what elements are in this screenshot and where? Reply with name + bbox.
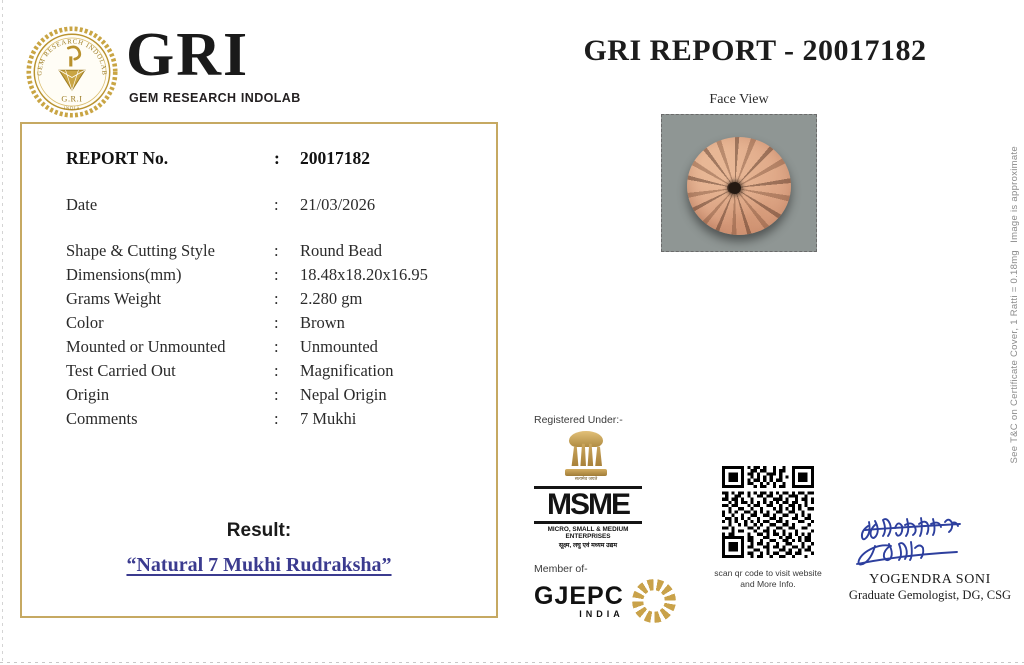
result-label: Result: [22, 520, 496, 542]
msme-fullname-hindi: सूक्ष्म, लघु एवं मध्यम उद्यम [534, 540, 642, 549]
row-separator: : [274, 265, 300, 285]
brand-gri-text: GRI [126, 24, 301, 86]
svg-text:G.R.I: G.R.I [61, 94, 82, 103]
row-separator: : [274, 148, 300, 169]
row-value: 18.48x18.20x16.95 [300, 265, 466, 285]
emblem-lions [569, 431, 603, 447]
gjepc-country: INDIA [534, 609, 624, 619]
row-separator: : [274, 361, 300, 381]
member-of-label: Member of- [534, 563, 694, 575]
gri-seal-icon: GEM RESEARCH INDOLAB G.R.I INDIA [26, 26, 118, 118]
row-value: Brown [300, 313, 466, 333]
table-row: Test Carried Out : Magnification [66, 361, 466, 381]
row-label: Dimensions(mm) [66, 265, 274, 285]
row-label: Mounted or Unmounted [66, 337, 274, 357]
ashoka-emblem-icon: सत्यमेव जयते [560, 430, 612, 482]
msme-wordmark: MSME [534, 486, 642, 524]
table-row: REPORT No. : 20017182 [66, 148, 466, 169]
report-details-list: REPORT No. : 20017182 Date : 21/03/2026 … [66, 148, 466, 433]
table-row: Shape & Cutting Style : Round Bead [66, 241, 466, 261]
table-row: Comments : 7 Mukhi [66, 409, 466, 429]
face-view-section: Face View [654, 92, 824, 252]
row-label: Date [66, 195, 274, 215]
emblem-base [565, 469, 607, 476]
table-row: Dimensions(mm) : 18.48x18.20x16.95 [66, 265, 466, 285]
row-value: 2.280 gm [300, 289, 466, 309]
row-label: Origin [66, 385, 274, 405]
qr-code-icon[interactable] [722, 466, 814, 558]
report-details-panel: REPORT No. : 20017182 Date : 21/03/2026 … [20, 122, 498, 618]
emblem-motto-text: सत्यमेव जयते [560, 476, 612, 482]
row-separator: : [274, 313, 300, 333]
row-label: Test Carried Out [66, 361, 274, 381]
registration-section: Registered Under:- सत्यमेव जयते MSME MIC… [534, 414, 694, 623]
brand-sub-research: RESEARCH [163, 91, 236, 105]
row-value: Round Bead [300, 241, 466, 261]
row-value: Unmounted [300, 337, 466, 357]
registered-under-label: Registered Under:- [534, 414, 694, 426]
row-label: Shape & Cutting Style [66, 241, 274, 261]
gjepc-sunburst-icon [632, 579, 676, 623]
row-separator: : [274, 241, 300, 261]
gemstone-photo [661, 114, 817, 252]
table-row: Color : Brown [66, 313, 466, 333]
gjepc-wordmark: GJEPC [534, 584, 624, 609]
row-value: 21/03/2026 [300, 195, 466, 215]
table-row: Date : 21/03/2026 [66, 195, 466, 215]
signature-block: YOGENDRA SONI Graduate Gemologist, DG, C… [845, 516, 1015, 603]
row-label: Comments [66, 409, 274, 429]
terms-conditions-note: See T&C on Certificate Cover, 1 Ratti = … [1009, 250, 1020, 464]
row-value: Magnification [300, 361, 466, 381]
row-separator: : [274, 409, 300, 429]
row-value: 20017182 [300, 148, 466, 169]
table-row: Grams Weight : 2.280 gm [66, 289, 466, 309]
certificate-header: GEM RESEARCH INDOLAB G.R.I INDIA GRI GEM… [0, 0, 520, 108]
signatory-role: Graduate Gemologist, DG, CSG [845, 588, 1015, 603]
result-section: Result: “Natural 7 Mukhi Rudraksha” [22, 520, 496, 577]
brand-lockup: GRI GEM RESEARCH INDOLAB [126, 24, 301, 106]
row-value: 7 Mukhi [300, 409, 466, 429]
page-title: GRI REPORT - 20017182 [520, 34, 990, 68]
table-row: Origin : Nepal Origin [66, 385, 466, 405]
gjepc-wordmark-group: GJEPC INDIA [534, 584, 624, 619]
signatory-name: YOGENDRA SONI [845, 572, 1015, 588]
row-separator: : [274, 385, 300, 405]
qr-section: scan qr code to visit website and More I… [706, 466, 830, 589]
row-value: Nepal Origin [300, 385, 466, 405]
row-separator: : [274, 195, 300, 215]
handwritten-signature [845, 516, 1015, 570]
qr-caption: scan qr code to visit website and More I… [706, 568, 830, 589]
rudraksha-bead-image [687, 137, 791, 235]
gjepc-logo: GJEPC INDIA [534, 579, 694, 623]
brand-subtitle: GEM RESEARCH INDOLAB [126, 90, 301, 106]
image-approximate-note: Image is approximate [1009, 146, 1020, 243]
brand-sub-gem: GEM [129, 91, 159, 105]
msme-logo: MSME MICRO, SMALL & MEDIUM ENTERPRISES स… [534, 486, 642, 549]
msme-fullname-english: MICRO, SMALL & MEDIUM ENTERPRISES [534, 526, 642, 540]
row-label: Color [66, 313, 274, 333]
brand-sub-indolab: INDOLAB [241, 91, 301, 105]
row-separator: : [274, 337, 300, 357]
certificate-page: GEM RESEARCH INDOLAB G.R.I INDIA GRI GEM… [0, 0, 1024, 665]
table-row: Mounted or Unmounted : Unmounted [66, 337, 466, 357]
result-value: “Natural 7 Mukhi Rudraksha” [22, 554, 496, 577]
row-separator: : [274, 289, 300, 309]
face-view-label: Face View [654, 92, 824, 108]
signature-stroke-icon [845, 516, 1015, 570]
row-label: REPORT No. [66, 148, 274, 169]
svg-text:INDIA: INDIA [64, 106, 81, 111]
bottom-cutline [0, 662, 1024, 663]
row-label: Grams Weight [66, 289, 274, 309]
